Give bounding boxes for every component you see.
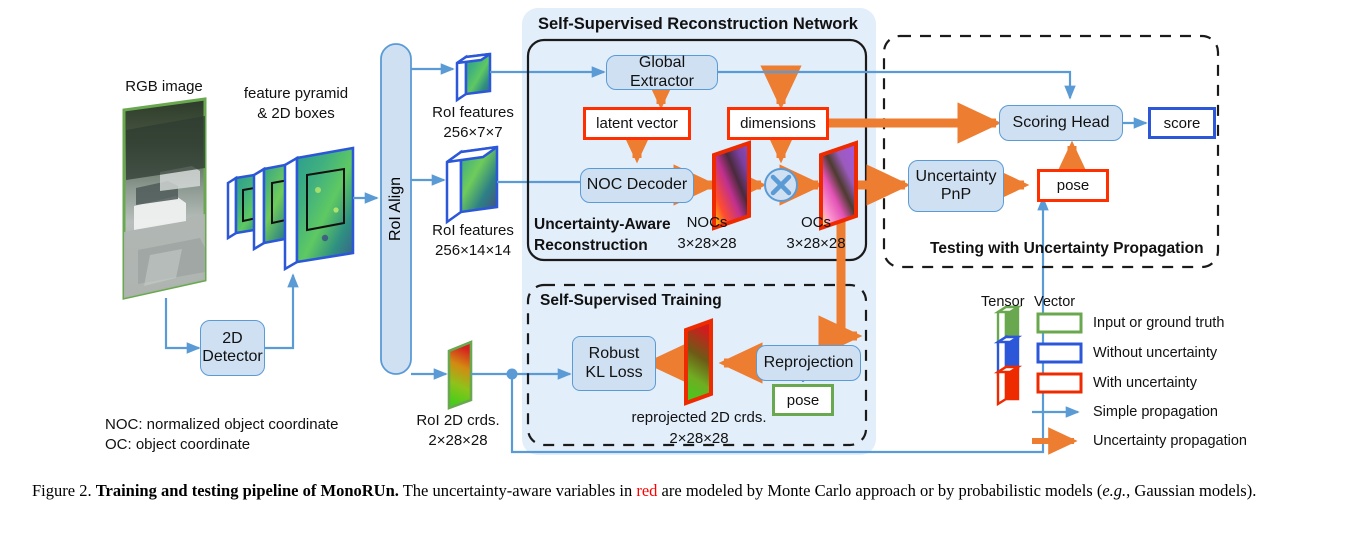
legend-col-tensor: Tensor bbox=[981, 294, 1025, 310]
uncertainty-aware-title-line2: Reconstruction bbox=[534, 237, 648, 255]
pose-train-node[interactable]: pose bbox=[772, 384, 834, 416]
testing-box bbox=[884, 36, 1218, 267]
legend-arrow-1-label: Uncertainty propagation bbox=[1093, 433, 1247, 449]
scoring-head-node[interactable]: Scoring Head bbox=[999, 105, 1123, 141]
legend-row-1-label: Without uncertainty bbox=[1093, 345, 1217, 361]
reprojected-label-line1: reprojected 2D crds. bbox=[631, 409, 766, 426]
uncertainty-pnp-label-line1: Uncertainty bbox=[916, 168, 997, 186]
caption-part1: The uncertainty-aware variables in bbox=[399, 481, 636, 500]
roi-features-large-tensor bbox=[447, 147, 497, 222]
legend-tensor-icons bbox=[998, 307, 1018, 404]
reprojection-label: Reprojection bbox=[764, 354, 854, 372]
roi-features-large-label-line1: RoI features bbox=[432, 222, 514, 239]
caption-bold: Training and testing pipeline of MonoRUn… bbox=[96, 481, 399, 500]
caption-prefix: Figure 2. bbox=[32, 481, 96, 500]
legend-arrow-0-label: Simple propagation bbox=[1093, 404, 1218, 420]
latent-vector-label: latent vector bbox=[596, 115, 678, 132]
rgb-image-label: RGB image bbox=[125, 78, 203, 95]
noc-decoder-label: NOC Decoder bbox=[587, 176, 687, 194]
abbrev-oc: OC: object coordinate bbox=[105, 436, 250, 453]
pose-train-label: pose bbox=[787, 392, 820, 409]
2d-detector-label-line1: 2D bbox=[222, 330, 242, 348]
roi-2d-coords-label-line1: RoI 2D crds. bbox=[416, 412, 499, 429]
dimensions-label: dimensions bbox=[740, 115, 816, 132]
figure-caption: Figure 2. Training and testing pipeline … bbox=[32, 478, 1317, 503]
recon-network-title: Self-Supervised Reconstruction Network bbox=[538, 15, 858, 34]
feature-pyramid-label-line1: feature pyramid bbox=[244, 85, 348, 102]
roi-features-small-label-line2: 256×7×7 bbox=[443, 124, 502, 141]
pose-test-node[interactable]: pose bbox=[1037, 169, 1109, 202]
roi-features-small-tensor bbox=[457, 54, 490, 100]
legend-row-0-label: Input or ground truth bbox=[1093, 315, 1224, 331]
scoring-head-label: Scoring Head bbox=[1013, 114, 1110, 132]
uncertainty-aware-title-line1: Uncertainty-Aware bbox=[534, 216, 671, 234]
figure-2-pipeline-diagram: RGB image feature pyramid & 2D boxes 2D … bbox=[0, 0, 1345, 460]
testing-title: Testing with Uncertainty Propagation bbox=[930, 240, 1204, 258]
ocs-label-line2: 3×28×28 bbox=[786, 235, 845, 252]
2d-detector-label-line2: Detector bbox=[202, 348, 262, 366]
reprojection-node[interactable]: Reprojection bbox=[756, 345, 861, 381]
abbrev-noc: NOC: normalized object coordinate bbox=[105, 416, 338, 433]
global-extractor-node[interactable]: Global Extractor bbox=[606, 55, 718, 90]
uncertainty-pnp-label-line2: PnP bbox=[941, 186, 971, 204]
caption-red-word: red bbox=[636, 481, 657, 500]
legend-vector-icons bbox=[1038, 314, 1081, 392]
legend-arrow-icons bbox=[1032, 412, 1078, 441]
robust-kl-loss-label-line1: Robust bbox=[589, 345, 640, 363]
robust-kl-loss-label-line2: KL Loss bbox=[585, 364, 642, 382]
caption-part3: , Gaussian models). bbox=[1126, 481, 1256, 500]
latent-vector-node[interactable]: latent vector bbox=[583, 107, 691, 140]
nocs-label-line1: NOCs bbox=[687, 214, 728, 231]
legend-row-2-label: With uncertainty bbox=[1093, 375, 1197, 391]
robust-kl-loss-node[interactable]: Robust KL Loss bbox=[572, 336, 656, 391]
ocs-label-line1: OCs bbox=[801, 214, 831, 231]
score-node[interactable]: score bbox=[1148, 107, 1216, 139]
2d-detector-node[interactable]: 2D Detector bbox=[200, 320, 265, 376]
feature-pyramid bbox=[228, 148, 353, 269]
reprojected-2d-coords-tensor bbox=[686, 321, 711, 403]
roi-align-bar bbox=[381, 44, 411, 374]
rgb-image-thumbnail bbox=[124, 99, 205, 298]
uncertainty-pnp-node[interactable]: Uncertainty PnP bbox=[908, 160, 1004, 212]
nocs-label-line2: 3×28×28 bbox=[677, 235, 736, 252]
legend-col-vector: Vector bbox=[1034, 294, 1075, 310]
roi-2d-coords-tensor bbox=[449, 342, 471, 408]
roi-2d-coords-label-line2: 2×28×28 bbox=[428, 432, 487, 449]
global-extractor-label: Global Extractor bbox=[607, 54, 717, 91]
dimensions-node[interactable]: dimensions bbox=[727, 107, 829, 140]
roi-features-small-label-line1: RoI features bbox=[432, 104, 514, 121]
reprojected-label-line2: 2×28×28 bbox=[669, 430, 728, 447]
noc-decoder-node[interactable]: NOC Decoder bbox=[580, 168, 694, 203]
score-label: score bbox=[1164, 115, 1201, 132]
self-supervised-training-title: Self-Supervised Training bbox=[540, 292, 722, 310]
caption-italic: e.g. bbox=[1102, 481, 1126, 500]
feature-pyramid-label-line2: & 2D boxes bbox=[257, 105, 335, 122]
pose-test-label: pose bbox=[1057, 177, 1090, 194]
caption-part2: are modeled by Monte Carlo approach or b… bbox=[657, 481, 1102, 500]
roi-features-large-label-line2: 256×14×14 bbox=[435, 242, 511, 259]
